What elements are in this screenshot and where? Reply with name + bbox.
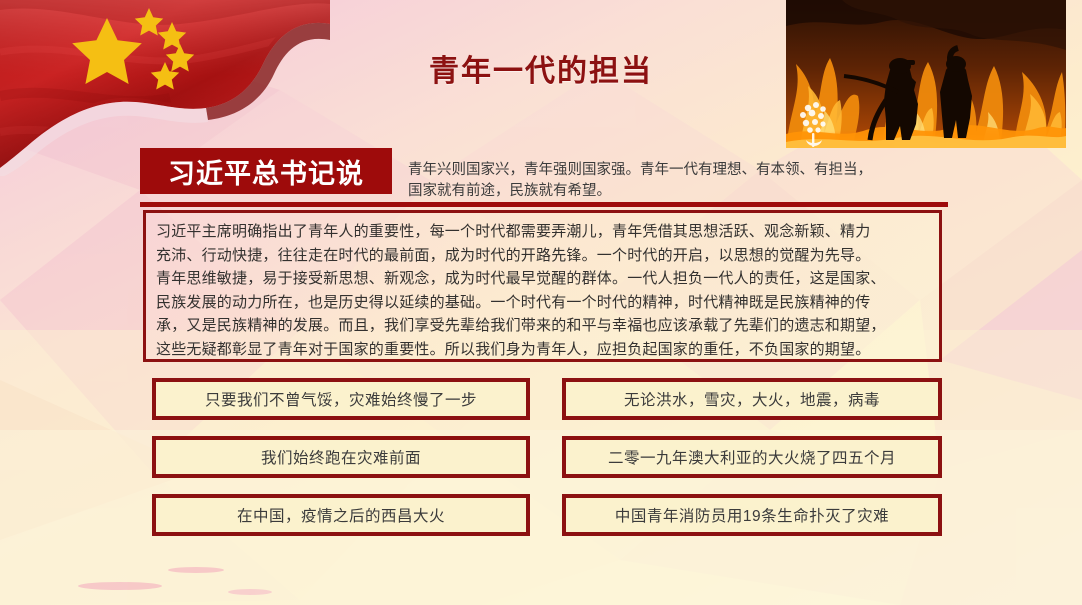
speaker-banner-label: 习近平总书记说	[168, 152, 364, 191]
quote-line: 国家就有前途，民族就有希望。	[408, 181, 948, 202]
point-box[interactable]: 在中国，疫情之后的西昌大火	[152, 494, 530, 536]
paragraph-line: 青年思维敏捷，易于接受新思想、新观念，成为时代最早觉醒的群体。一代人担负一代人的…	[156, 267, 929, 291]
point-box-label: 只要我们不曾气馁，灾难始终慢了一步	[205, 388, 477, 410]
paragraph-line: 民族发展的动力所在，也是历史得以延续的基础。一个时代有一个时代的精神，时代精神既…	[156, 291, 929, 315]
point-box-label: 中国青年消防员用19条生命扑灭了灾难	[615, 504, 889, 526]
banner-divider-rule	[140, 202, 948, 207]
point-box-label: 无论洪水，雪灾，大火，地震，病毒	[624, 388, 880, 410]
key-points-grid: 只要我们不曾气馁，灾难始终慢了一步 无论洪水，雪灾，大火，地震，病毒 我们始终跑…	[152, 378, 942, 536]
quote-line: 青年兴则国家兴，青年强则国家强。青年一代有理想、有本领、有担当，	[408, 160, 948, 181]
point-box[interactable]: 中国青年消防员用19条生命扑灭了灾难	[562, 494, 942, 536]
point-box[interactable]: 我们始终跑在灾难前面	[152, 436, 530, 478]
page-title: 青年一代的担当	[0, 46, 1082, 90]
speaker-banner: 习近平总书记说	[140, 148, 392, 194]
main-paragraph-panel: 习近平主席明确指出了青年人的重要性，每一个时代都需要弄潮儿，青年凭借其思想活跃、…	[143, 210, 942, 362]
presentation-slide: 觅知网 青年一代的担当 习近平总书记说 青年兴则国家兴，青年强则国家强。青年一代…	[0, 0, 1082, 605]
paragraph-line: 习近平主席明确指出了青年人的重要性，每一个时代都需要弄潮儿，青年凭借其思想活跃、…	[156, 220, 929, 244]
point-box[interactable]: 二零一九年澳大利亚的大火烧了四五个月	[562, 436, 942, 478]
point-box[interactable]: 无论洪水，雪灾，大火，地震，病毒	[562, 378, 942, 420]
point-box-label: 在中国，疫情之后的西昌大火	[237, 504, 445, 526]
point-box[interactable]: 只要我们不曾气馁，灾难始终慢了一步	[152, 378, 530, 420]
paragraph-line: 充沛、行动快捷，往往走在时代的最前面，成为时代的开路先锋。一个时代的开启，以思想…	[156, 244, 929, 268]
point-box-label: 二零一九年澳大利亚的大火烧了四五个月	[608, 446, 896, 468]
paragraph-line: 这些无疑都彰显了青年对于国家的重要性。所以我们身为青年人，应担负起国家的重任，不…	[156, 338, 929, 362]
point-box-label: 我们始终跑在灾难前面	[261, 446, 421, 468]
paragraph-line: 承，又是民族精神的发展。而且，我们享受先辈给我们带来的和平与幸福也应该承载了先辈…	[156, 314, 929, 338]
quote-text: 青年兴则国家兴，青年强则国家强。青年一代有理想、有本领、有担当， 国家就有前途，…	[408, 160, 948, 202]
